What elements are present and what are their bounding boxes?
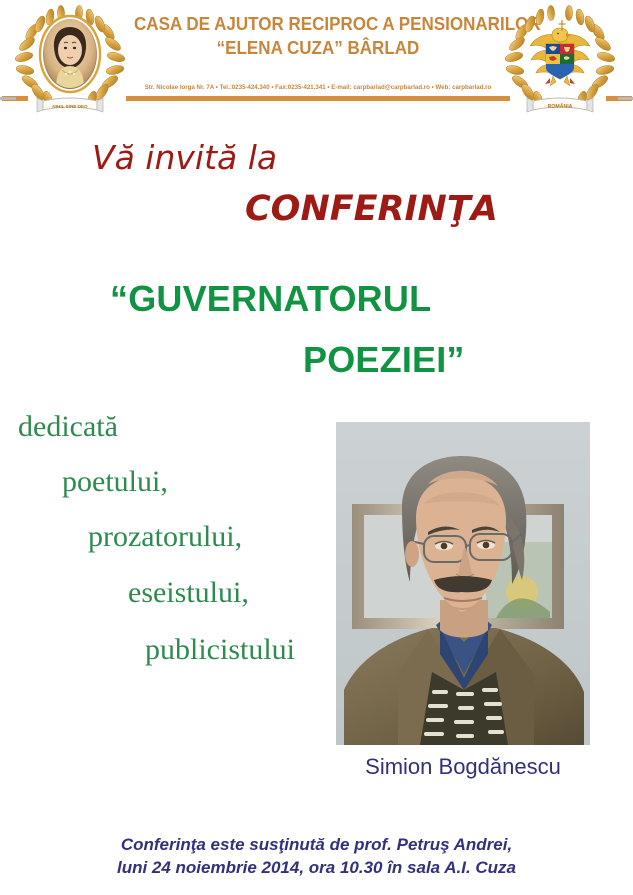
conference-invitation-poster: NIHIL SINE DEO CASA DE AJUTOR RECIPROC A… [0,0,633,895]
emblem-right-motto: ROMÂNIA [548,103,573,110]
event-details-footer: Conferinţa este susţinută de prof. Petru… [0,834,633,880]
dedication-block: dedicată poetului, prozatorului, eseistu… [0,412,340,665]
footer-line-1: Conferinţa este susţinută de prof. Petru… [0,834,633,857]
footer-line-2: luni 24 noiembrie 2014, ora 10.30 în sal… [0,857,633,880]
letterhead-divider-rule [126,96,510,101]
portrait-caption: Simion Bogdănescu [336,754,590,780]
invite-line-2: CONFERINŢA [245,189,633,229]
conference-title: “GUVERNATORUL POEZIEI” [0,278,633,381]
dedication-line-3: prozatorului, [88,522,340,552]
conference-title-line-2: POEZIEI” [303,339,633,381]
portrait-of-simion-bogdanescu [336,422,590,745]
emblem-left-motto: NIHIL SINE DEO [52,104,88,109]
dedication-line-4: eseistului, [128,578,340,608]
organisation-name-line-2: “ELENA CUZA” BÂRLAD [134,38,502,58]
conference-title-line-1: “GUVERNATORUL [110,278,633,320]
dedication-line-1: dedicată [18,412,340,442]
invite-line-1: Vă invită la [92,138,633,177]
contact-info-line: Str. Nicolae Iorga Nr. 7A • Tel.:0235-42… [126,84,510,91]
letterhead-rule-gray-right [618,97,633,100]
letterhead-rule-gray-left [0,97,16,100]
organisation-name-line-1: CASA DE AJUTOR RECIPROC A PENSIONARILOR [134,14,502,34]
invitation-heading: Vă invită la CONFERINŢA [0,138,633,229]
elena-cuza-portrait-emblem: NIHIL SINE DEO [10,2,130,118]
portrait-figure: Simion Bogdănescu [336,422,590,780]
romania-coat-of-arms-emblem: ROMÂNIA [500,2,620,118]
dedication-line-2: poetului, [62,467,340,497]
dedication-line-5: publicistului [145,635,340,665]
letterhead-header: NIHIL SINE DEO CASA DE AJUTOR RECIPROC A… [0,0,633,118]
letterhead-titles: CASA DE AJUTOR RECIPROC A PENSIONARILOR … [118,14,518,57]
